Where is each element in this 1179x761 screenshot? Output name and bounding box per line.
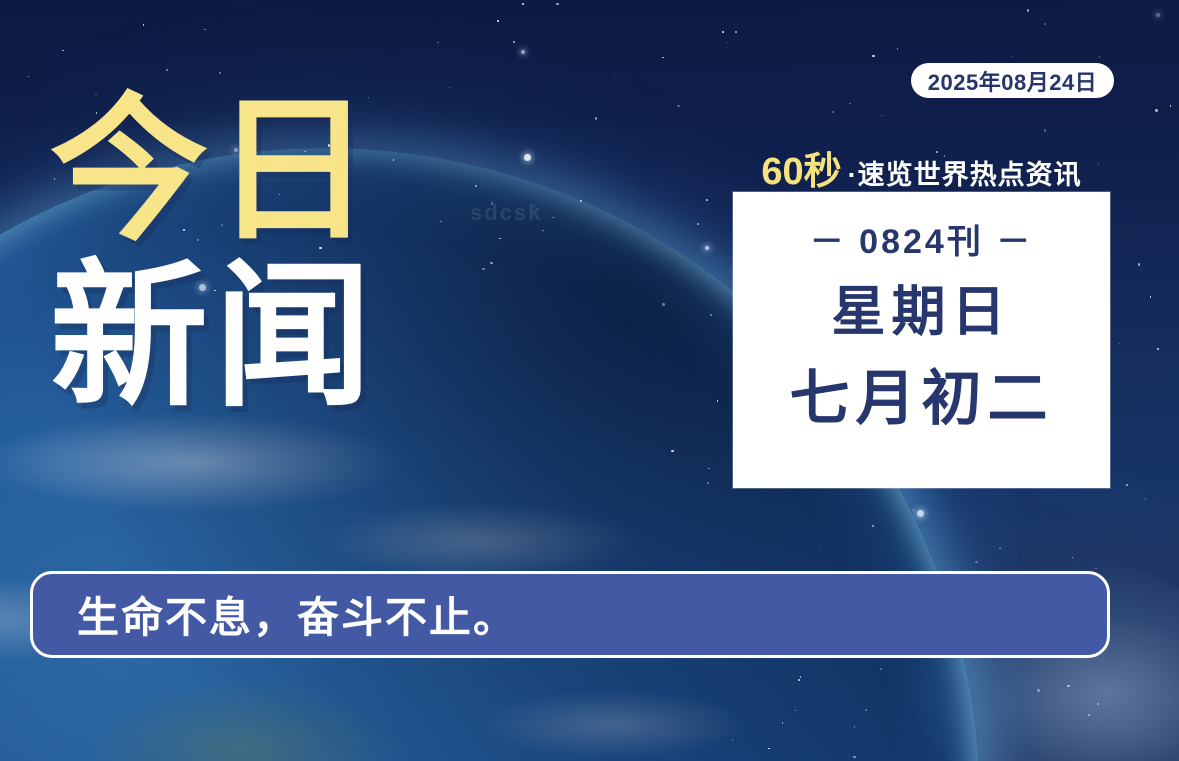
tagline: 60秒 ·速览世界热点资讯 xyxy=(733,140,1110,195)
issue-number: － 0824刊 － xyxy=(810,214,1034,263)
page-title-line-2: 新闻 xyxy=(50,262,378,412)
tagline-rest: ·速览世界热点资讯 xyxy=(848,153,1082,192)
poster-content: sdcsk 今日 新闻 2025年08月24日 60秒 ·速览世界热点资讯 － … xyxy=(0,0,1179,761)
quote-banner: 生命不息，奋斗不止。 xyxy=(30,571,1110,658)
date-badge: 2025年08月24日 xyxy=(911,63,1114,98)
info-card: － 0824刊 － 星期日 七月初二 xyxy=(733,192,1110,488)
watermark-text: sdcsk xyxy=(470,200,542,226)
page-title-line-1: 今日 xyxy=(50,96,378,246)
weekday-label: 星期日 xyxy=(832,285,1012,339)
lunar-date-label: 七月初二 xyxy=(790,369,1054,429)
news-poster: sdcsk 今日 新闻 2025年08月24日 60秒 ·速览世界热点资讯 － … xyxy=(0,0,1179,761)
tagline-highlight: 60秒 xyxy=(761,140,841,195)
quote-text: 生命不息，奋斗不止。 xyxy=(77,584,517,645)
poster-title: 今日 新闻 xyxy=(50,96,378,412)
